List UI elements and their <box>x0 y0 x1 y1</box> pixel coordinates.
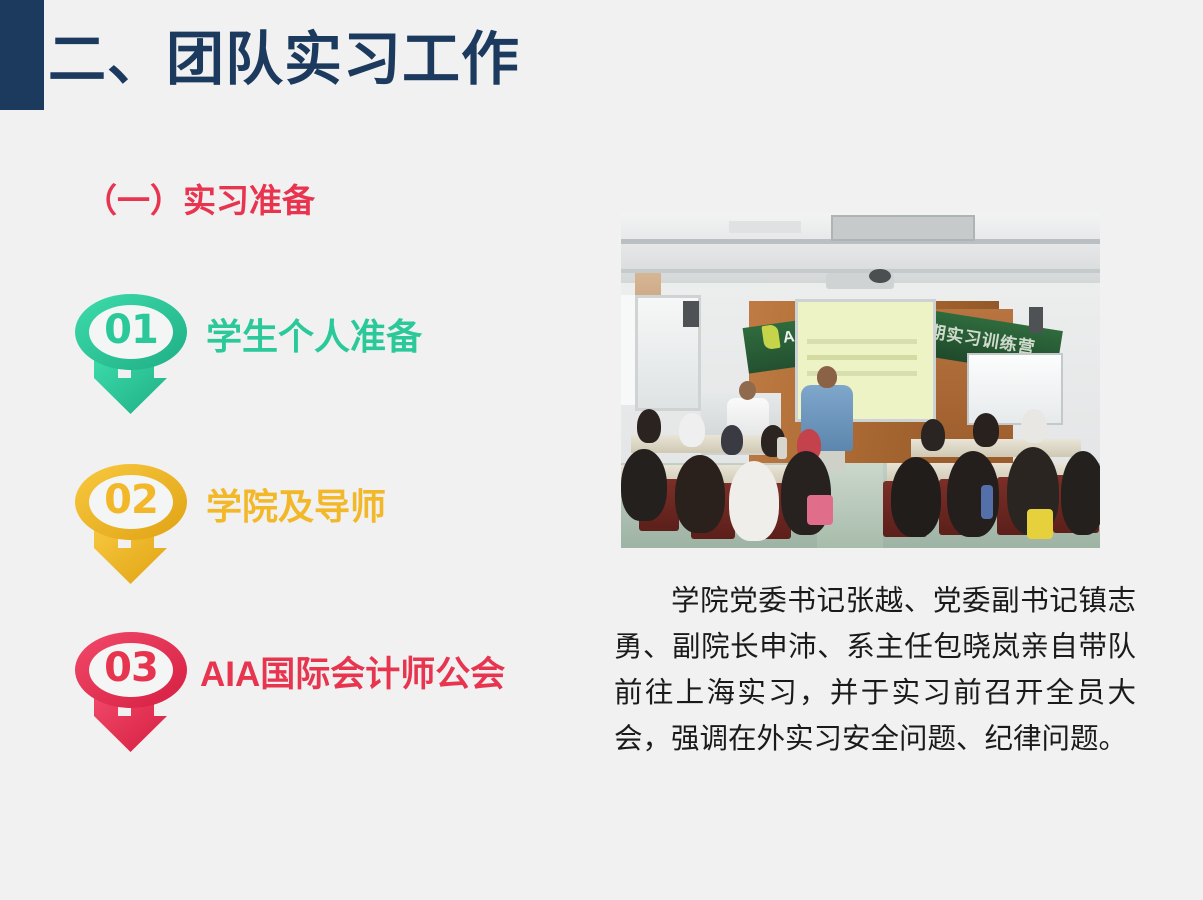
photo-attendee <box>729 461 779 541</box>
photo-ac-vent <box>831 215 975 241</box>
page-title: 二、团队实习工作 <box>48 30 520 91</box>
photo-speaker <box>683 301 699 327</box>
caption-text: 学院党委书记张越、党委副书记镇志勇、副院长申沛、系主任包晓岚亲自带队前往上海实习… <box>614 578 1136 763</box>
photo-attendee <box>721 425 743 455</box>
section-subtitle: （一）实习准备 <box>84 174 315 222</box>
step-label: 学院及导师 <box>206 478 386 530</box>
photo-attendee <box>921 419 945 451</box>
photo-assistant-head <box>739 381 756 400</box>
photo-speaker <box>1029 307 1043 333</box>
numbered-arrow-badge-icon: 03 <box>72 630 202 758</box>
step-label: 学生个人准备 <box>206 308 422 360</box>
photo-attendee <box>675 455 725 533</box>
photo-attendee <box>679 413 705 447</box>
title-accent-bar <box>0 0 44 110</box>
photo-presenter-head <box>817 366 837 388</box>
classroom-photo: A 期实习训练营 <box>621 213 1100 548</box>
photo-attendee <box>1021 409 1047 443</box>
slide-root: 二、团队实习工作 （一）实习准备 01 学生个人准备 <box>0 0 1203 900</box>
photo-projector-lens <box>869 269 891 283</box>
photo-attendee <box>973 413 999 447</box>
photo-bottle <box>777 437 787 459</box>
photo-bag <box>1027 509 1053 539</box>
photo-bag <box>807 495 833 525</box>
photo-bottle <box>981 485 993 519</box>
photo-attendee <box>1061 451 1100 535</box>
photo-attendee <box>891 457 941 537</box>
step-label: AIA国际会计师公会 <box>200 646 505 697</box>
photo-attendee <box>637 409 661 443</box>
photo-attendee <box>621 449 667 521</box>
numbered-arrow-badge-icon: 01 <box>72 292 202 420</box>
numbered-arrow-badge-icon: 02 <box>72 462 202 590</box>
photo-ceiling-panel <box>729 221 801 233</box>
aia-logo-letter: A <box>782 328 796 347</box>
photo-canvas: A 期实习训练营 <box>621 213 1100 548</box>
